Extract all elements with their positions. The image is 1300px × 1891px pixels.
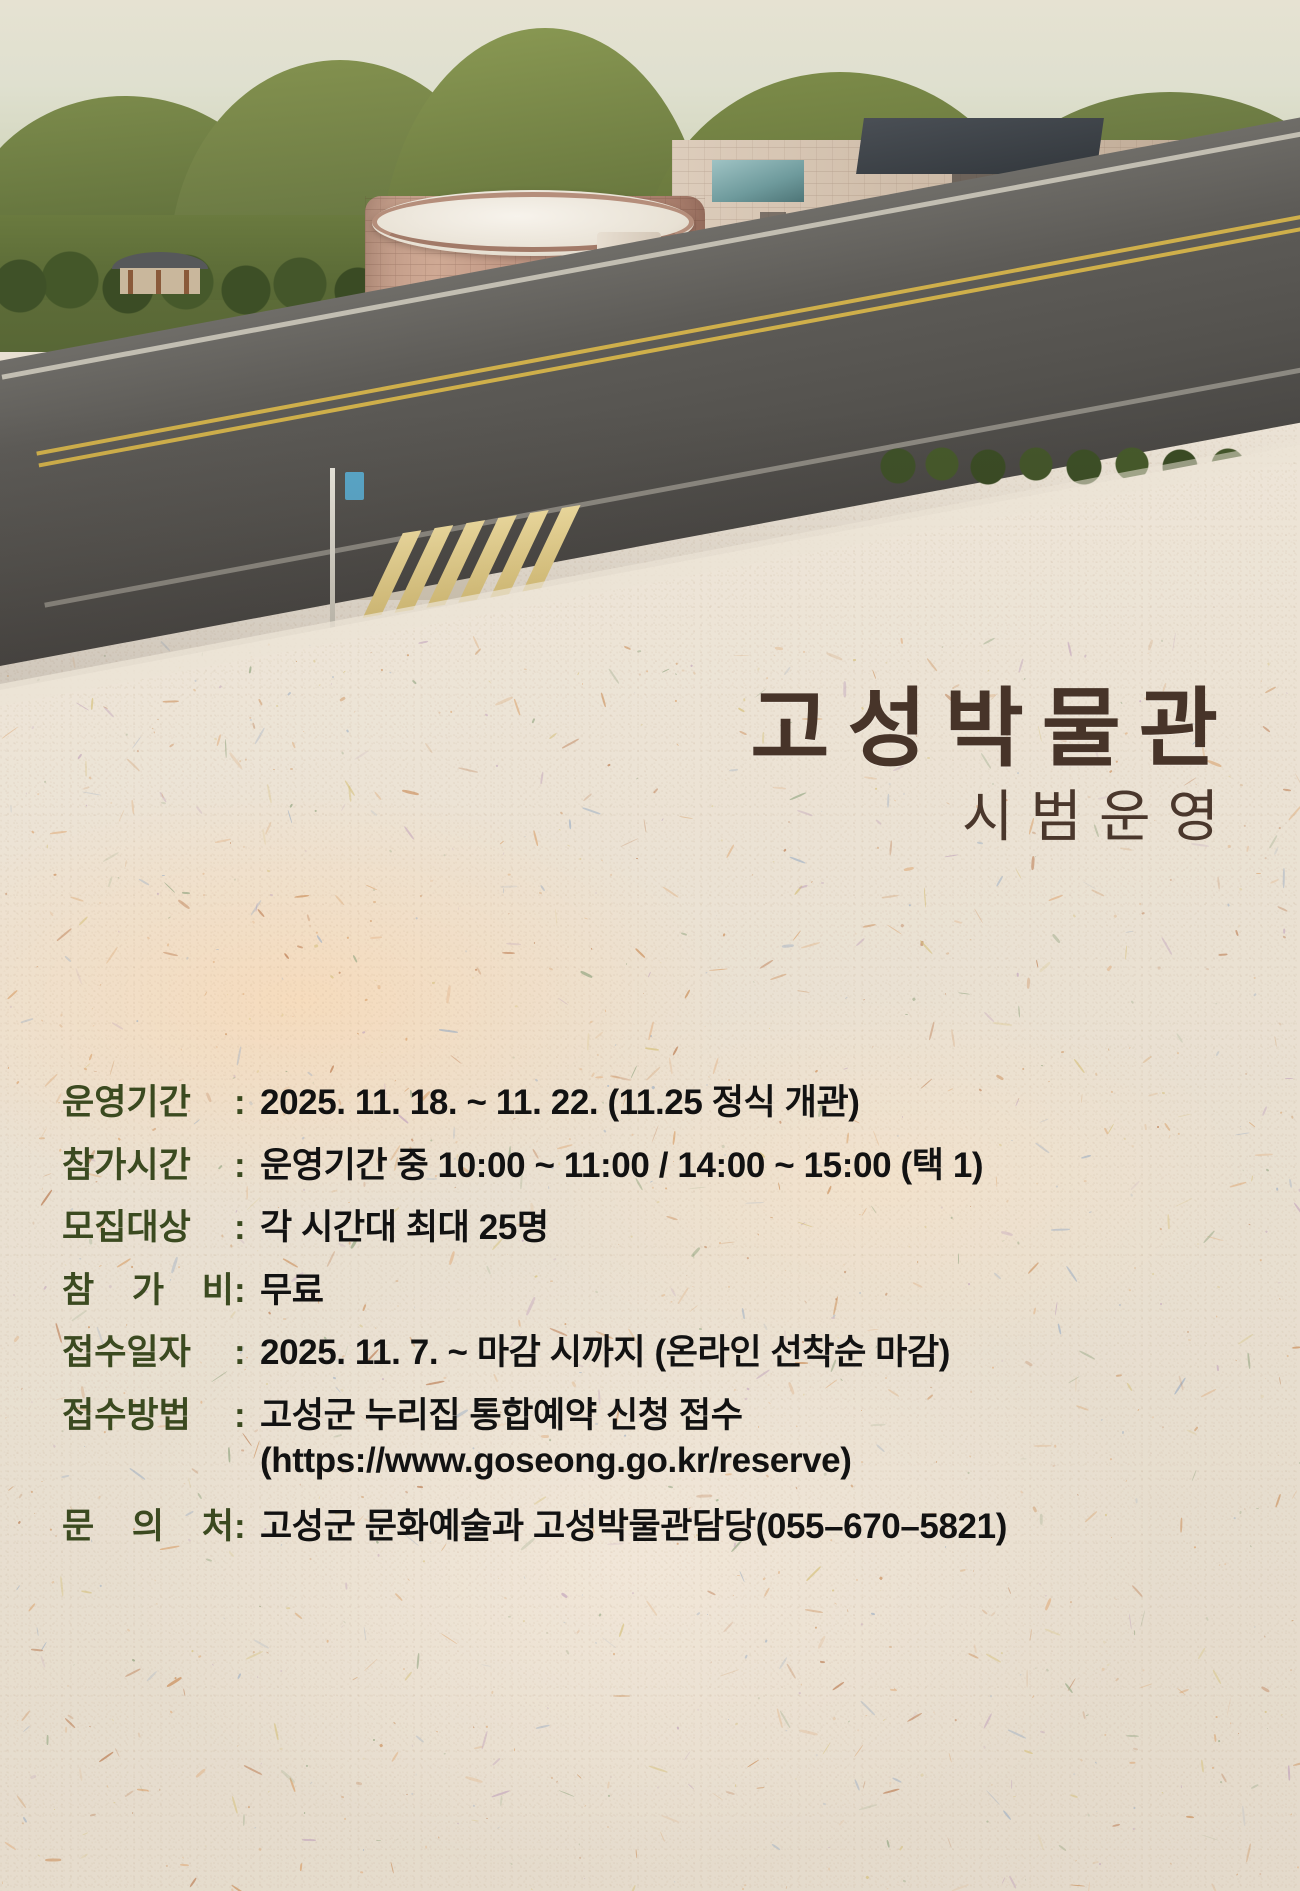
info-row-value-line1: 2025. 11. 7. ~ 마감 시까지 (온라인 선착순 마감) bbox=[260, 1333, 950, 1372]
info-row-label: 문 의 처 bbox=[62, 1504, 234, 1550]
info-row-value: 2025. 11. 18. ~ 11. 22. (11.25 정식 개관) bbox=[250, 1080, 1252, 1126]
page-subtitle: 시범운영 bbox=[240, 788, 1240, 847]
info-row: 참가시간:운영기간 중 10:00 ~ 11:00 / 14:00 ~ 15:0… bbox=[62, 1143, 1252, 1189]
info-row-label: 운영기간 bbox=[62, 1080, 234, 1126]
info-row-colon: : bbox=[234, 1205, 250, 1251]
info-list: 운영기간:2025. 11. 18. ~ 11. 22. (11.25 정식 개… bbox=[62, 1080, 1252, 1566]
info-row-colon: : bbox=[234, 1393, 250, 1439]
info-row-label: 접수방법 bbox=[62, 1393, 234, 1439]
info-row-value: 고성군 누리집 통합예약 신청 접수(https://www.goseong.g… bbox=[250, 1393, 1252, 1484]
page-title: 고성박물관 bbox=[240, 686, 1240, 774]
info-row-colon: : bbox=[234, 1080, 250, 1126]
info-row-colon: : bbox=[234, 1143, 250, 1189]
info-row-value-line2[interactable]: (https://www.goseong.go.kr/reserve) bbox=[260, 1438, 1252, 1484]
info-row-value-line1: 각 시간대 최대 25명 bbox=[260, 1208, 549, 1247]
info-row-label: 참 가 비 bbox=[62, 1268, 234, 1314]
info-row-label: 참가시간 bbox=[62, 1143, 234, 1189]
info-row-colon: : bbox=[234, 1504, 250, 1550]
info-row: 접수방법:고성군 누리집 통합예약 신청 접수(https://www.gose… bbox=[62, 1393, 1252, 1484]
info-row: 문 의 처:고성군 문화예술과 고성박물관담당(055–670–5821) bbox=[62, 1504, 1252, 1550]
info-row-colon: : bbox=[234, 1268, 250, 1314]
info-row-value-line1: 고성군 문화예술과 고성박물관담당(055–670–5821) bbox=[260, 1507, 1007, 1546]
info-row: 접수일자:2025. 11. 7. ~ 마감 시까지 (온라인 선착순 마감) bbox=[62, 1330, 1252, 1376]
info-row-value: 각 시간대 최대 25명 bbox=[250, 1205, 1252, 1251]
info-row: 모집대상:각 시간대 최대 25명 bbox=[62, 1205, 1252, 1251]
info-row: 운영기간:2025. 11. 18. ~ 11. 22. (11.25 정식 개… bbox=[62, 1080, 1252, 1126]
poster-title-block: 고성박물관 시범운영 bbox=[240, 686, 1240, 847]
info-row-value: 2025. 11. 7. ~ 마감 시까지 (온라인 선착순 마감) bbox=[250, 1330, 1252, 1376]
info-row-value: 고성군 문화예술과 고성박물관담당(055–670–5821) bbox=[250, 1504, 1252, 1550]
info-row: 참 가 비:무료 bbox=[62, 1268, 1252, 1314]
info-row-value-line1: 2025. 11. 18. ~ 11. 22. (11.25 정식 개관) bbox=[260, 1083, 860, 1122]
info-row-value-line1: 고성군 누리집 통합예약 신청 접수 bbox=[260, 1396, 743, 1435]
info-row-label: 모집대상 bbox=[62, 1205, 234, 1251]
info-row-value-line1: 무료 bbox=[260, 1271, 324, 1310]
info-row-value-line1: 운영기간 중 10:00 ~ 11:00 / 14:00 ~ 15:00 (택 … bbox=[260, 1146, 983, 1185]
poster-root: 고성박물관 시범운영 운영기간:2025. 11. 18. ~ 11. 22. … bbox=[0, 0, 1300, 1891]
info-row-colon: : bbox=[234, 1330, 250, 1376]
info-row-value: 무료 bbox=[250, 1268, 1252, 1314]
info-row-value: 운영기간 중 10:00 ~ 11:00 / 14:00 ~ 15:00 (택 … bbox=[250, 1143, 1252, 1189]
info-row-label: 접수일자 bbox=[62, 1330, 234, 1376]
